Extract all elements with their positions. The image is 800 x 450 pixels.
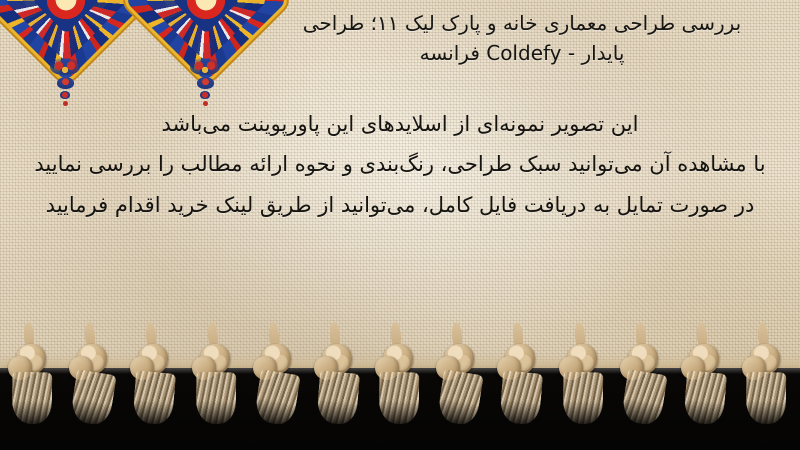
slide-title-line-2: پایدار - Coldefy فرانسه bbox=[272, 38, 772, 68]
slide-canvas: بررسی طراحی معماری خانه و پارک لیک ۱۱؛ ط… bbox=[0, 0, 800, 450]
slide-body-line-1: این تصویر نمونه‌ای از اسلایدهای این پاور… bbox=[20, 104, 780, 144]
medallion-pendant-left-icon bbox=[48, 58, 82, 108]
slide-body-line-2: با مشاهده آن می‌توانید سبک طراحی، رنگ‌بن… bbox=[20, 144, 780, 184]
slide-title-line-1: بررسی طراحی معماری خانه و پارک لیک ۱۱؛ ط… bbox=[272, 8, 772, 38]
slide-title: بررسی طراحی معماری خانه و پارک لیک ۱۱؛ ط… bbox=[272, 8, 772, 69]
medallion-pendant-right-icon bbox=[188, 58, 222, 108]
black-band bbox=[0, 368, 800, 450]
black-band-highlight bbox=[0, 368, 800, 374]
slide-body-line-3: در صورت تمایل به دریافت فایل کامل، می‌تو… bbox=[20, 185, 780, 225]
slide-body: این تصویر نمونه‌ای از اسلایدهای این پاور… bbox=[20, 104, 780, 225]
